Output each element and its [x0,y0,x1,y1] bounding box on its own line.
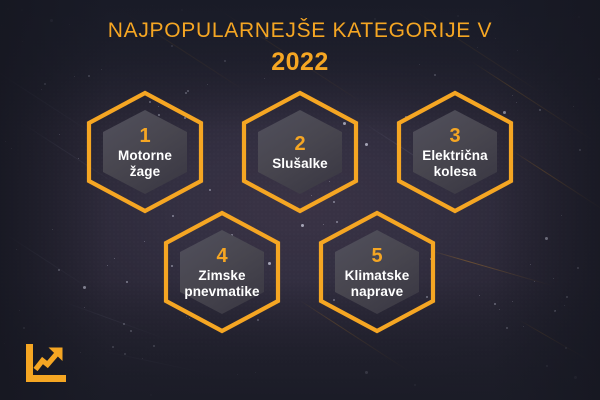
hexagon-label: Slušalke [272,156,328,172]
category-hexagon[interactable]: 4Zimskepnevmatike [161,210,283,334]
category-hexagon[interactable]: 1Motornežage [84,90,206,214]
category-hexagon[interactable]: 5Klimatskenaprave [316,210,438,334]
hexagon-rank: 4 [216,245,227,267]
hexagon-label: Zimskepnevmatike [184,268,259,300]
category-hexagon[interactable]: 3Električnakolesa [394,90,516,214]
hexagon-rank: 2 [294,133,305,155]
hexagon-content: 1Motornežage [84,90,206,214]
hexagon-rank: 5 [371,245,382,267]
hexagon-label-line-1: Električna [422,148,488,164]
hexagon-label-line-2: kolesa [422,164,488,180]
hexagon-content: 4Zimskepnevmatike [161,210,283,334]
hexagon-label: Klimatskenaprave [345,268,410,300]
hexagon-label-line-2: naprave [345,284,410,300]
hexagon-label-line-1: Motorne [118,148,172,164]
category-hexagon-group: 1Motornežage2Slušalke3Električnakolesa4Z… [0,0,600,400]
growth-chart-icon [22,342,70,384]
hexagon-label: Električnakolesa [422,148,488,180]
hexagon-label-line-1: Slušalke [272,156,328,172]
hexagon-content: 5Klimatskenaprave [316,210,438,334]
hexagon-label-line-1: Klimatske [345,268,410,284]
hexagon-rank: 3 [449,125,460,147]
hexagon-content: 2Slušalke [239,90,361,214]
category-hexagon[interactable]: 2Slušalke [239,90,361,214]
infographic-canvas: NAJPOPULARNEJŠE KATEGORIJE V 2022 1Motor… [0,0,600,400]
hexagon-content: 3Električnakolesa [394,90,516,214]
hexagon-label-line-1: Zimske [184,268,259,284]
hexagon-label-line-2: žage [118,164,172,180]
hexagon-rank: 1 [139,125,150,147]
hexagon-label: Motornežage [118,148,172,180]
hexagon-label-line-2: pnevmatike [184,284,259,300]
